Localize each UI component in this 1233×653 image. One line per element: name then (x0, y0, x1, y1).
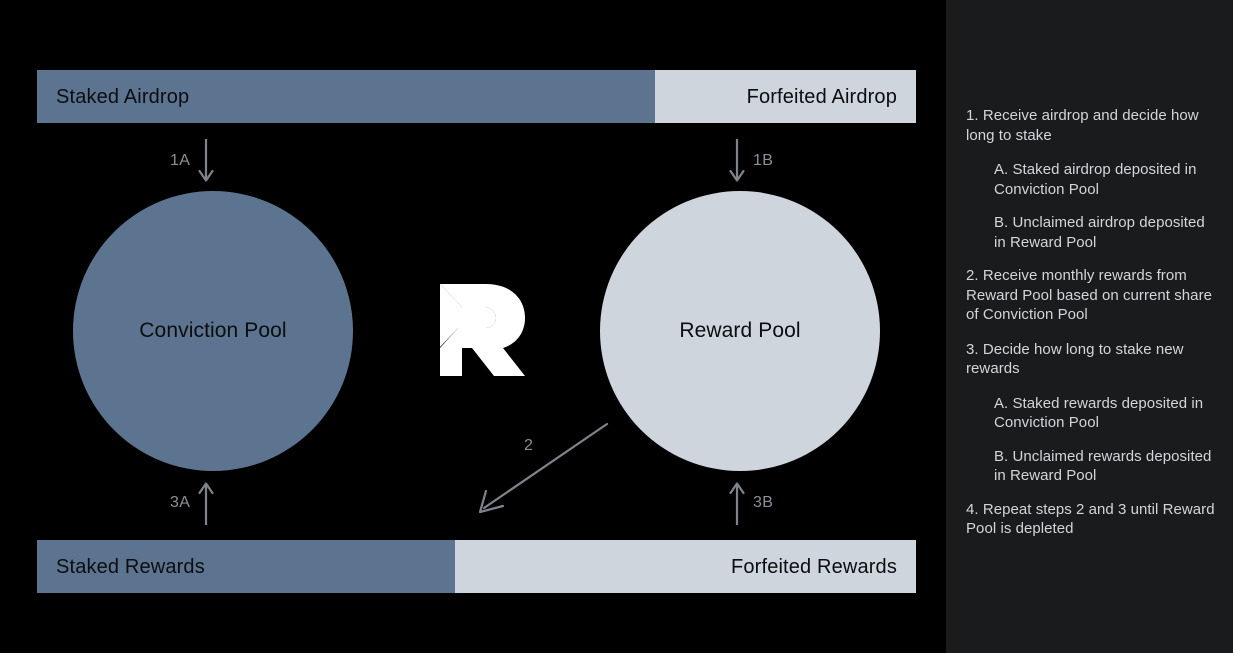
flow-1b-label: 1B (753, 153, 773, 169)
brand-logo-icon (436, 282, 526, 378)
rewards-bar: Staked Rewards Forfeited Rewards (37, 540, 916, 593)
step-item-1: 1. Receive airdrop and decide how long t… (966, 106, 1219, 145)
arrow-down-icon (728, 139, 746, 183)
conviction-pool-label: Conviction Pool (139, 319, 286, 343)
airdrop-bar: Staked Airdrop Forfeited Airdrop (37, 70, 916, 123)
flow-1b: 1B (728, 139, 773, 183)
forfeited-airdrop-label: Forfeited Airdrop (747, 87, 897, 107)
flow-3b-label: 3B (753, 495, 773, 511)
step-item-3: 3. Decide how long to stake new rewards (966, 340, 1219, 379)
step-item-2: 2. Receive monthly rewards from Reward P… (966, 266, 1219, 325)
staked-rewards-label: Staked Rewards (56, 557, 205, 577)
step-item-4: 4. Repeat steps 2 and 3 until Reward Poo… (966, 500, 1219, 539)
flow-1a: 1A (170, 139, 215, 183)
flow-1a-label: 1A (170, 153, 190, 169)
arrow-diagonal-down-left-icon (462, 412, 622, 527)
flow-3a-label: 3A (170, 495, 190, 511)
flow-3a: 3A (170, 481, 215, 525)
reward-pool-circle[interactable]: Reward Pool (600, 191, 880, 471)
forfeited-rewards-label: Forfeited Rewards (731, 557, 897, 577)
step-item-3b: B. Unclaimed rewards deposited in Reward… (966, 447, 1219, 486)
arrow-up-icon (728, 481, 746, 525)
conviction-pool-circle[interactable]: Conviction Pool (73, 191, 353, 471)
step-item-1a: A. Staked airdrop deposited in Convictio… (966, 160, 1219, 199)
staked-rewards-segment[interactable]: Staked Rewards (37, 540, 455, 593)
diagram-canvas: Staked Airdrop Forfeited Airdrop Staked … (0, 0, 946, 653)
staked-airdrop-segment[interactable]: Staked Airdrop (37, 70, 655, 123)
page-root: Staked Airdrop Forfeited Airdrop Staked … (0, 0, 1233, 653)
forfeited-airdrop-segment[interactable]: Forfeited Airdrop (655, 70, 916, 123)
reward-pool-label: Reward Pool (679, 319, 800, 343)
arrow-up-icon (197, 481, 215, 525)
arrow-down-icon (197, 139, 215, 183)
forfeited-rewards-segment[interactable]: Forfeited Rewards (455, 540, 916, 593)
staked-airdrop-label: Staked Airdrop (56, 87, 189, 107)
steps-sidebar: 1. Receive airdrop and decide how long t… (946, 0, 1233, 653)
flow-3b: 3B (728, 481, 773, 525)
step-item-3a: A. Staked rewards deposited in Convictio… (966, 394, 1219, 433)
step-item-1b: B. Unclaimed airdrop deposited in Reward… (966, 213, 1219, 252)
flow-2-label: 2 (524, 438, 533, 454)
